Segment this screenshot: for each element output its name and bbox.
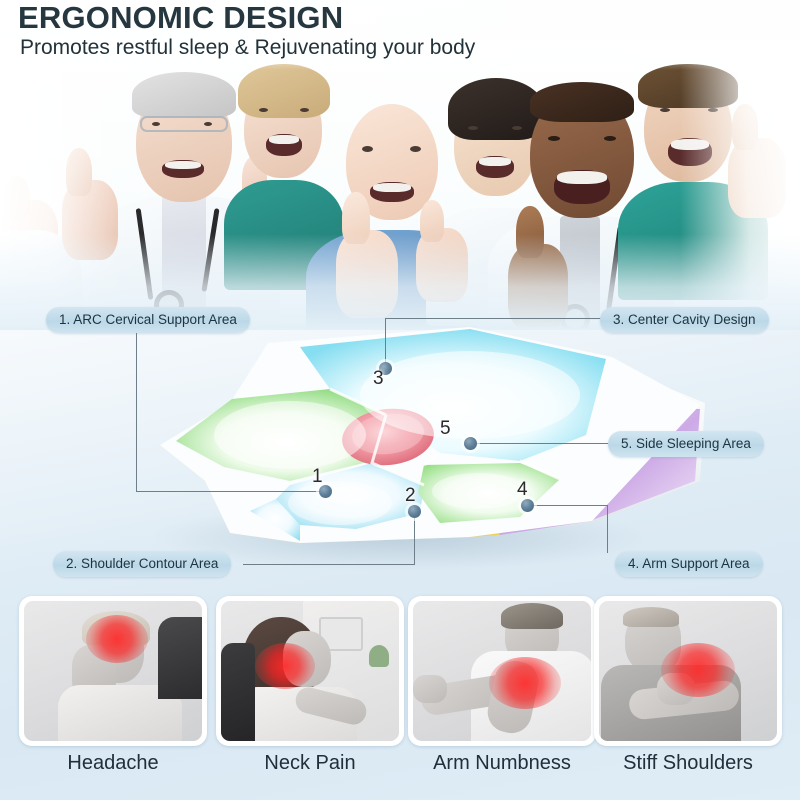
- symptom-card-stiff-shoulders[interactable]: Stiff Shoulders: [594, 596, 782, 746]
- eye: [604, 136, 616, 141]
- pain-glow-neck: [255, 643, 315, 689]
- eye: [660, 108, 670, 112]
- leader-line-2: [243, 564, 415, 565]
- hair: [530, 82, 634, 122]
- marker-number-3: 3: [373, 368, 384, 390]
- leader-line-4: [534, 505, 608, 506]
- eye: [204, 122, 212, 126]
- photo-frame: [19, 596, 207, 746]
- leader-line-1: [136, 329, 137, 492]
- plant: [369, 645, 389, 667]
- callout-1-arc-cervical-support-area[interactable]: 1. ARC Cervical Support Area: [46, 307, 250, 333]
- leader-line-4: [607, 505, 608, 553]
- office-chair: [158, 617, 202, 699]
- callout-3-center-cavity-design[interactable]: 3. Center Cavity Design: [600, 307, 769, 333]
- marker-dot-5[interactable]: [464, 437, 477, 450]
- teeth: [165, 161, 201, 169]
- callout-2-shoulder-contour-area[interactable]: 2. Shoulder Contour Area: [53, 551, 231, 577]
- page-title: ERGONOMIC DESIGN: [18, 0, 343, 36]
- leader-line-1: [136, 491, 326, 492]
- symptom-card-neck-pain[interactable]: Neck Pain: [216, 596, 404, 746]
- symptom-caption: Arm Numbness: [408, 752, 596, 775]
- symptom-caption: Stiff Shoulders: [594, 752, 782, 775]
- pain-glow-shoulder: [661, 643, 735, 697]
- header: ERGONOMIC DESIGN Promotes restful sleep …: [0, 0, 800, 64]
- symptom-photo: [221, 601, 399, 741]
- hair: [623, 607, 679, 627]
- marker-number-5: 5: [440, 418, 451, 440]
- leader-line-3: [385, 318, 386, 367]
- symptom-caption: Neck Pain: [216, 752, 404, 775]
- symptom-photo: [413, 601, 591, 741]
- office-chair: [221, 643, 255, 741]
- photo-frame: [216, 596, 404, 746]
- infographic-page: ERGONOMIC DESIGN Promotes restful sleep …: [0, 0, 800, 800]
- marker-number-2: 2: [405, 485, 416, 507]
- pain-glow-head: [86, 615, 148, 663]
- leader-line-2: [414, 511, 415, 565]
- eye: [259, 108, 268, 112]
- symptom-card-headache[interactable]: Headache: [19, 596, 207, 746]
- teeth: [269, 135, 299, 144]
- symptom-strip: Headache Neck P: [0, 596, 800, 800]
- leader-line-3: [385, 318, 601, 319]
- photo-frame: [594, 596, 782, 746]
- teeth: [557, 171, 607, 184]
- callout-5-side-sleeping-area[interactable]: 5. Side Sleeping Area: [608, 431, 764, 457]
- teeth: [373, 183, 411, 192]
- hand: [413, 675, 447, 703]
- marker-number-1: 1: [312, 466, 323, 488]
- callout-4-arm-support-area[interactable]: 4. Arm Support Area: [615, 551, 763, 577]
- symptom-card-arm-numbness[interactable]: Arm Numbness: [408, 596, 596, 746]
- symptom-photo: [599, 601, 777, 741]
- leader-line-5: [472, 443, 610, 444]
- photo-frame: [408, 596, 596, 746]
- eye: [468, 126, 478, 130]
- marker-number-4: 4: [517, 479, 528, 501]
- pain-glow-arm: [489, 657, 561, 709]
- hair: [501, 603, 563, 629]
- symptom-caption: Headache: [19, 752, 207, 775]
- eye: [362, 146, 373, 152]
- eye: [410, 146, 421, 152]
- page-subtitle: Promotes restful sleep & Rejuvenating yo…: [20, 36, 475, 60]
- eye: [152, 122, 160, 126]
- eye: [548, 136, 560, 141]
- symptom-photo: [24, 601, 202, 741]
